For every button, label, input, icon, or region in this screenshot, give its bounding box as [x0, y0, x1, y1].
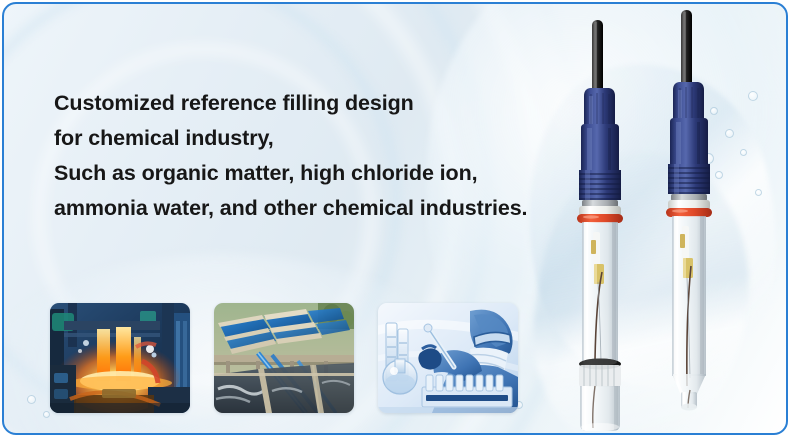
application-thumbnail-strip	[50, 303, 518, 413]
thumbnail-steel-mill-furnace	[50, 303, 190, 413]
headline-line-3: Such as organic matter, high chloride io…	[54, 156, 574, 191]
water-bubble	[43, 411, 50, 418]
water-bubble	[748, 91, 758, 101]
ph-electrode-exposed-bulb	[635, 10, 745, 410]
headline-block: Customized reference filling design for …	[54, 86, 574, 226]
headline-line-4: ammonia water, and other chemical indust…	[54, 191, 574, 226]
thumbnail-water-treatment-plant	[214, 303, 354, 413]
product-banner: Customized reference filling design for …	[0, 0, 790, 437]
water-bubble	[755, 189, 762, 196]
headline-line-2: for chemical industry,	[54, 121, 574, 156]
water-bubble	[27, 395, 36, 404]
headline-line-1: Customized reference filling design	[54, 86, 574, 121]
thumbnail-laboratory-scientist	[378, 303, 518, 413]
